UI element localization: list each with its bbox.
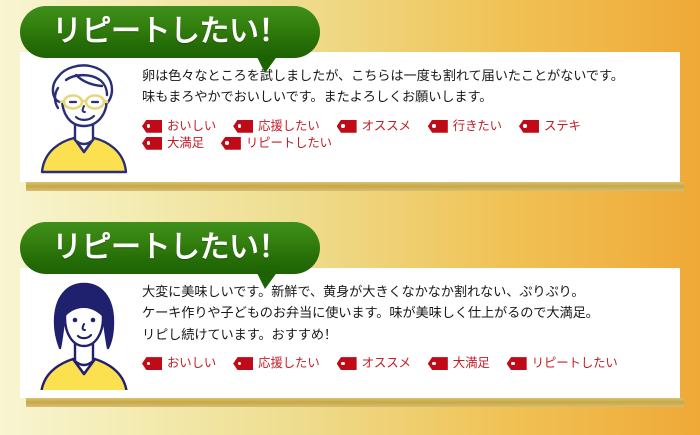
- review-text-1: 卵は色々なところを試しましたが、こちらは一度も割れて届いたことがないです。 味も…: [142, 66, 668, 109]
- tag-label: 大満足: [167, 137, 204, 149]
- review-tag[interactable]: 応援したい: [233, 120, 319, 133]
- tag-label: 応援したい: [258, 120, 319, 132]
- tag-label: おいしい: [167, 120, 216, 132]
- speech-bubble-tail-2: [256, 271, 278, 289]
- tag-label: 応援したい: [258, 357, 319, 369]
- review-card-body-2: 大変に美味しいです。新鮮で、黄身が大きくなかなか割れない、ぷりぷり。 ケーキ作り…: [20, 268, 680, 398]
- review-tag[interactable]: ステキ: [519, 120, 581, 133]
- review-body-2: 大変に美味しいです。新鮮で、黄身が大きくなかなか割れない、ぷりぷり。 ケーキ作り…: [142, 278, 668, 370]
- review-tag[interactable]: リピートしたい: [221, 137, 332, 150]
- review-tag[interactable]: リピートしたい: [507, 357, 618, 370]
- tag-icon: [428, 357, 448, 370]
- tag-icon: [142, 120, 162, 133]
- card-shadow-2: [26, 398, 684, 407]
- review-page: リピートしたい！: [0, 0, 700, 435]
- tag-icon: [428, 120, 448, 133]
- review-tag-list-1: おいしい 応援したい オススメ 行きたい ステキ 大満足 リピートしたい: [142, 116, 668, 150]
- review-tag[interactable]: 行きたい: [428, 120, 502, 133]
- tag-icon: [519, 120, 539, 133]
- review-card-wrap-1: 卵は色々なところを試しましたが、こちらは一度も割れて届いたことがないです。 味も…: [20, 52, 680, 191]
- review-tag[interactable]: おいしい: [142, 120, 216, 133]
- tag-icon: [221, 137, 241, 150]
- review-tag[interactable]: 大満足: [428, 357, 490, 370]
- review-card-1: リピートしたい！: [0, 6, 700, 191]
- review-tag[interactable]: 応援したい: [233, 357, 319, 370]
- tag-icon: [337, 120, 357, 133]
- tag-label: おいしい: [167, 357, 216, 369]
- avatar-person-glasses: [32, 62, 136, 174]
- tag-label: 大満足: [453, 357, 490, 369]
- tag-icon: [142, 137, 162, 150]
- review-card-wrap-2: 大変に美味しいです。新鮮で、黄身が大きくなかなか割れない、ぷりぷり。 ケーキ作り…: [20, 268, 680, 407]
- review-tag[interactable]: オススメ: [337, 120, 411, 133]
- avatar-person-bob-hair: [32, 278, 136, 390]
- review-tag[interactable]: オススメ: [337, 357, 411, 370]
- review-card-2: リピートしたい！: [0, 222, 700, 407]
- review-text-2: 大変に美味しいです。新鮮で、黄身が大きくなかなか割れない、ぷりぷり。 ケーキ作り…: [142, 282, 668, 346]
- tag-label: オススメ: [362, 120, 411, 132]
- review-tag[interactable]: おいしい: [142, 357, 216, 370]
- review-headline-label-2: リピートしたい！: [20, 233, 320, 263]
- card-shadow-1: [26, 182, 684, 191]
- tag-icon: [507, 357, 527, 370]
- review-headline-bubble-1: リピートしたい！: [20, 6, 320, 58]
- tag-icon: [233, 357, 253, 370]
- tag-icon: [233, 120, 253, 133]
- review-tag-list-2: おいしい 応援したい オススメ 大満足 リピートしたい: [142, 353, 668, 370]
- tag-label: ステキ: [544, 120, 581, 132]
- tag-label: リピートしたい: [532, 357, 618, 369]
- review-body-1: 卵は色々なところを試しましたが、こちらは一度も割れて届いたことがないです。 味も…: [142, 62, 668, 150]
- review-headline-label-1: リピートしたい！: [20, 17, 320, 47]
- speech-bubble-tail-1: [256, 55, 278, 73]
- tag-icon: [142, 357, 162, 370]
- tag-label: 行きたい: [453, 120, 502, 132]
- tag-label: オススメ: [362, 357, 411, 369]
- review-tag[interactable]: 大満足: [142, 137, 204, 150]
- review-headline-bubble-2: リピートしたい！: [20, 222, 320, 274]
- tag-label: リピートしたい: [246, 137, 332, 149]
- review-card-body-1: 卵は色々なところを試しましたが、こちらは一度も割れて届いたことがないです。 味も…: [20, 52, 680, 182]
- tag-icon: [337, 357, 357, 370]
